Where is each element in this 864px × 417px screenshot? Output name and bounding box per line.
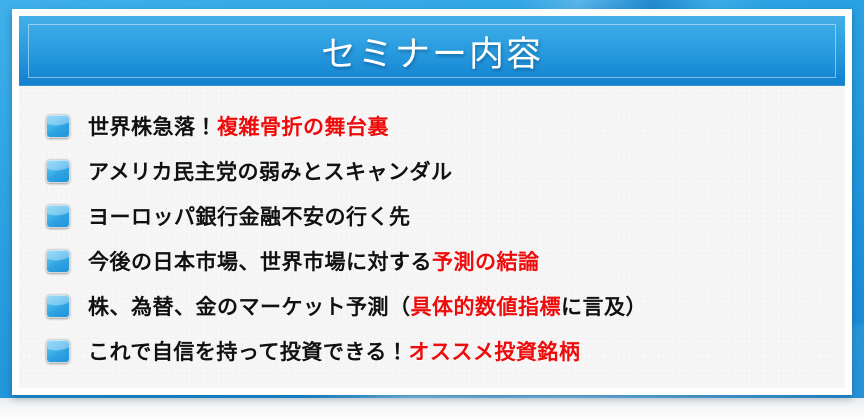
list-item-label: ヨーロッパ銀行金融不安の行く先 [88,201,411,231]
page-title: セミナー内容 [19,16,845,86]
list-item-plain-text: 今後の日本市場、世界市場に対する [88,250,432,274]
list-item-highlight-text: 複雑骨折の舞台裏 [217,115,389,139]
list-item-plain-text: アメリカ民主党の弱みとスキャンダル [88,160,452,184]
list-item-highlight-text: 予測の結論 [432,250,540,274]
blue-rounded-square-icon [46,249,70,273]
blue-rounded-square-icon [46,294,70,318]
blue-rounded-square-icon [46,114,70,138]
blue-rounded-square-icon [46,159,70,183]
list-item-label: 株、為替、金のマーケット予測（具体的数値指標に言及） [88,291,647,321]
list-item-label: 世界株急落！複雑骨折の舞台裏 [88,111,389,141]
list-item-plain-text: これで自信を持って投資できる！ [88,340,408,364]
slide-background: セミナー内容 世界株急落！複雑骨折の舞台裏アメリカ民主党の弱みとスキャンダルヨー… [0,0,864,417]
list-item-plain-text: 株、為替、金のマーケット予測（ [88,295,411,319]
list-item: ヨーロッパ銀行金融不安の行く先 [19,193,845,238]
blue-rounded-square-icon [46,339,70,363]
list-item: 株、為替、金のマーケット予測（具体的数値指標に言及） [19,283,845,328]
list-item-label: 今後の日本市場、世界市場に対する予測の結論 [88,246,540,276]
background-bottom-strip [0,398,864,417]
list-item-label: これで自信を持って投資できる！オススメ投資銘柄 [88,336,580,366]
blue-rounded-square-icon [46,204,70,228]
list-item-label: アメリカ民主党の弱みとスキャンダル [88,156,452,186]
list-item: 今後の日本市場、世界市場に対する予測の結論 [19,238,845,283]
seminar-topic-list: 世界株急落！複雑骨折の舞台裏アメリカ民主党の弱みとスキャンダルヨーロッパ銀行金融… [19,86,845,373]
card-header: セミナー内容 [19,16,845,86]
list-item: これで自信を持って投資できる！オススメ投資銘柄 [19,328,845,373]
list-item-highlight-text: 具体的数値指標 [411,295,562,319]
list-item-plain-text: ヨーロッパ銀行金融不安の行く先 [88,205,411,229]
list-item: 世界株急落！複雑骨折の舞台裏 [19,103,845,148]
list-item-plain-text: 世界株急落！ [88,115,217,139]
list-item: アメリカ民主党の弱みとスキャンダル [19,148,845,193]
list-item-plain-text: に言及） [561,295,647,319]
list-item-highlight-text: オススメ投資銘柄 [408,340,580,364]
seminar-content-card: セミナー内容 世界株急落！複雑骨折の舞台裏アメリカ民主党の弱みとスキャンダルヨー… [12,9,852,395]
